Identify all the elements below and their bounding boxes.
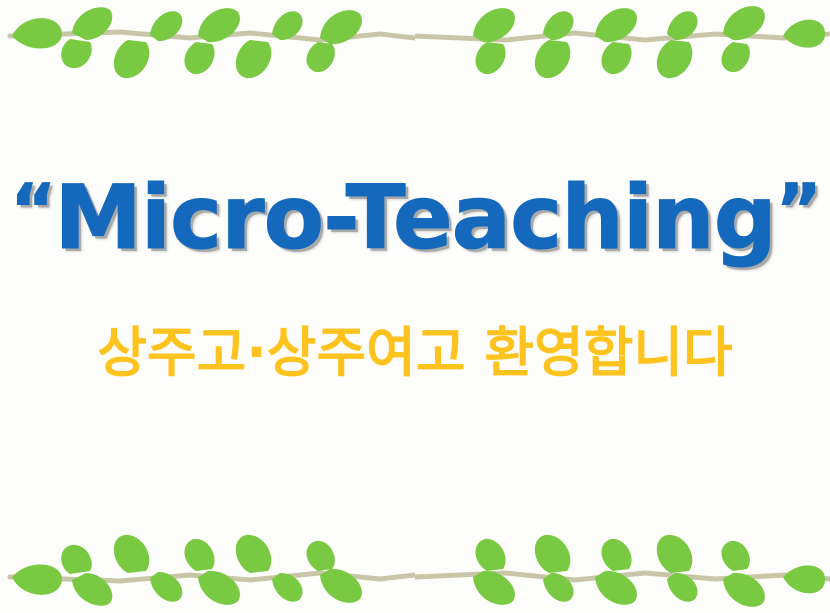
slide-title: “Micro-Teaching” bbox=[0, 172, 830, 264]
leaf-vine-icon bbox=[415, 0, 830, 90]
subtitle-text: 상주고·상주여고 환영합니다 bbox=[97, 322, 732, 384]
close-quote-mark: ” bbox=[776, 169, 820, 251]
title-line: “Micro-Teaching” bbox=[10, 172, 819, 264]
slide-canvas: “Micro-Teaching” 상주고·상주여고 환영합니다 bbox=[0, 0, 830, 613]
leaf-vine-icon bbox=[415, 523, 830, 613]
leaf-vine-icon bbox=[0, 523, 415, 613]
open-quote-mark: “ bbox=[10, 169, 54, 251]
leaf-vine-icon bbox=[0, 0, 415, 90]
page-title: Micro-Teaching bbox=[54, 166, 775, 269]
slide-subtitle: 상주고·상주여고 환영합니다 bbox=[0, 322, 830, 384]
